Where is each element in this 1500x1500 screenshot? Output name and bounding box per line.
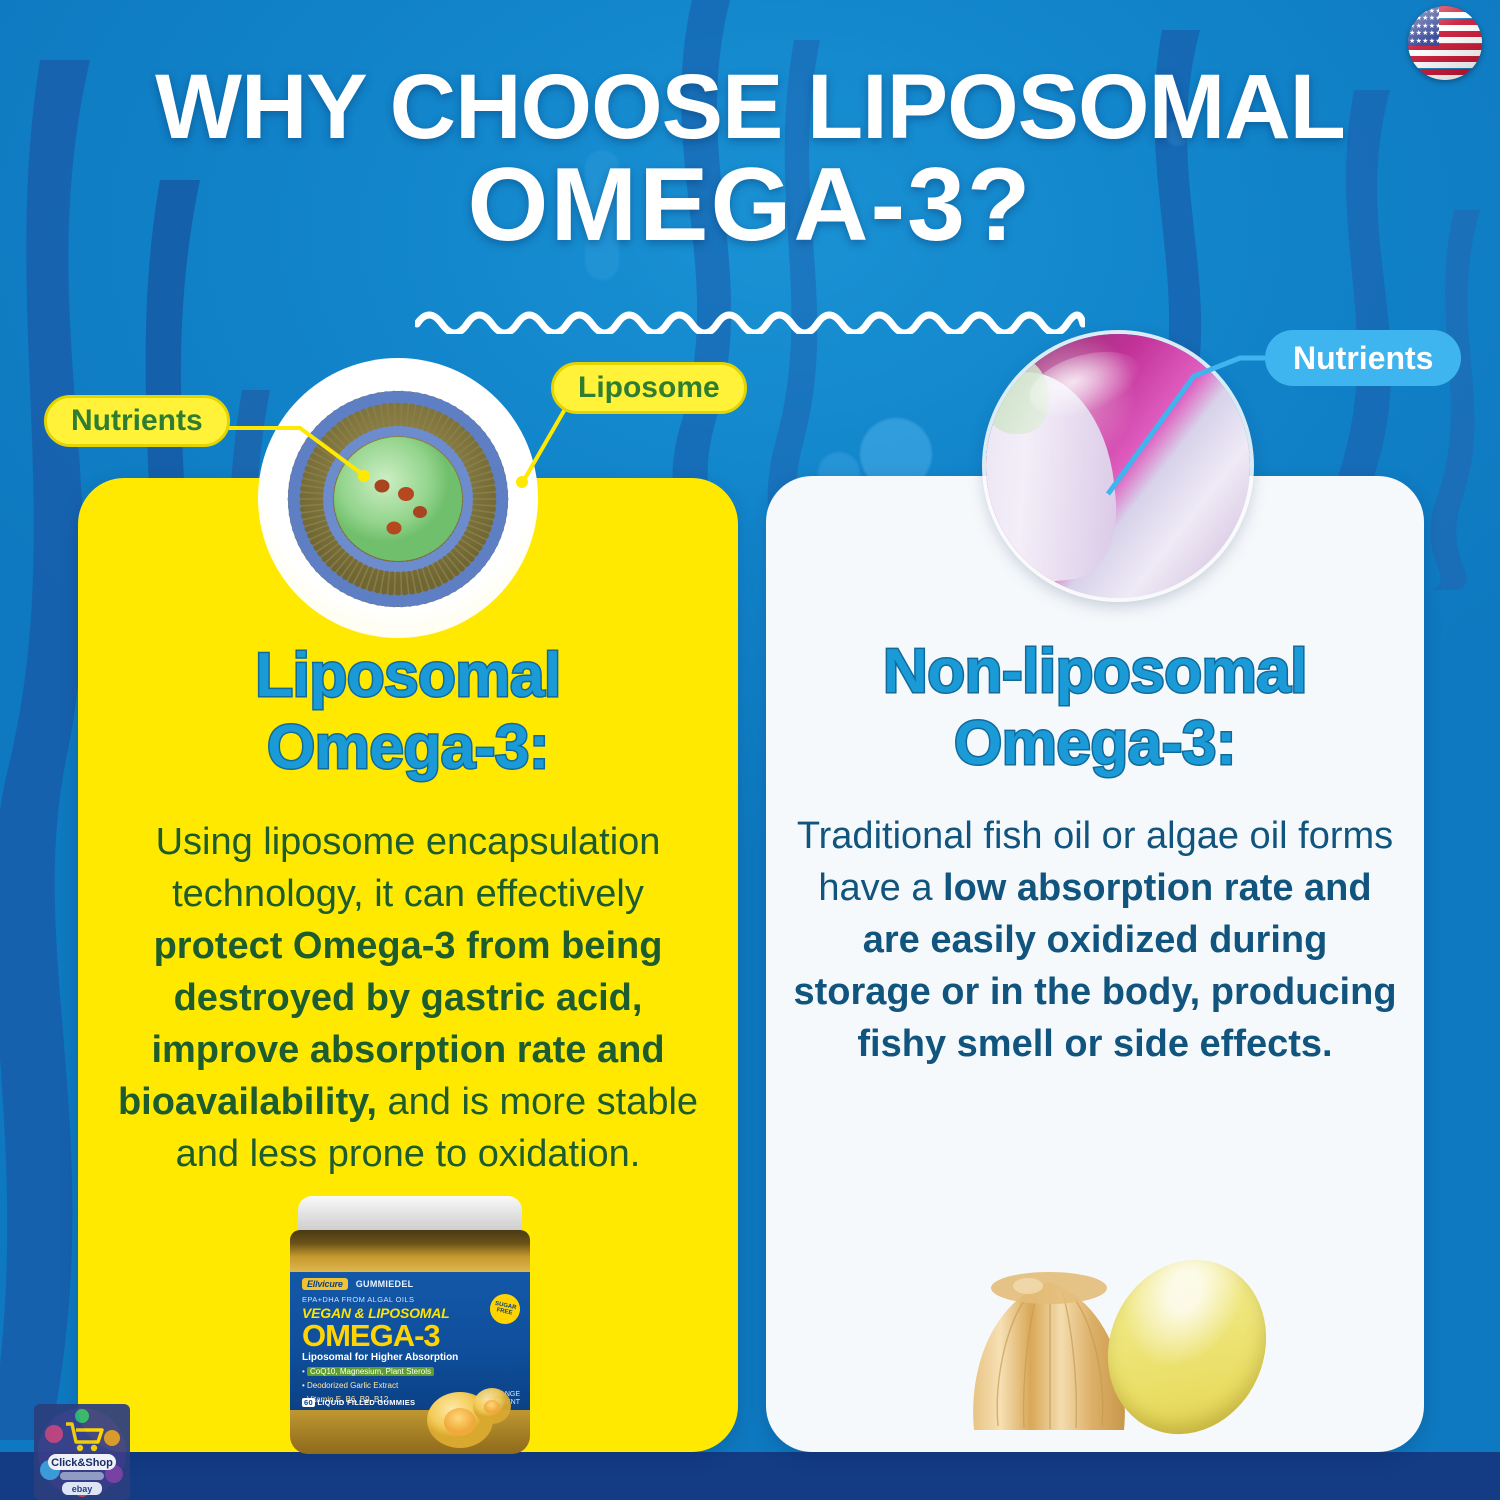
card-non-liposomal-title-line2: Omega-3: (954, 709, 1236, 778)
wave-divider (415, 300, 1085, 334)
watermark-marketplace: ebay (72, 1484, 93, 1494)
card-liposomal-title-line2: Omega-3: (267, 713, 549, 782)
label-count: 60 (302, 1398, 315, 1407)
card-liposomal-title: Liposomal Omega-3: (78, 640, 738, 784)
brand-primary: Ellvicure (302, 1278, 348, 1290)
title-line-2: OMEGA-3? (0, 156, 1500, 254)
callout-nutrients-left: Nutrients (44, 395, 230, 447)
label-product-name: OMEGA-3 (302, 1321, 520, 1351)
card-liposomal-title-line1: Liposomal (255, 641, 561, 710)
watermark-name: Click&Shop (51, 1457, 113, 1469)
label-count-row: 60 LIQUID FILLED GUMMIES (302, 1398, 415, 1407)
callout-liposome: Liposome (551, 362, 747, 414)
label-kicker: EPA+DHA FROM ALGAL OILS (302, 1295, 520, 1304)
brand-secondary: GUMMIEDEL (356, 1279, 414, 1289)
label-bullet-1: • CoQ10, Magnesium, Plant Sterols (302, 1366, 520, 1377)
callout-nutrients-right: Nutrients (1265, 330, 1461, 386)
page-title: WHY CHOOSE LIPOSOMAL OMEGA-3? (0, 58, 1500, 254)
product-bottle-image: Ellvicure GUMMIEDEL EPA+DHA FROM ALGAL O… (276, 1196, 544, 1458)
non-liposomal-gummy-image (958, 1258, 1258, 1454)
gummy-piece-icon (426, 1384, 512, 1450)
label-brand-row: Ellvicure GUMMIEDEL (302, 1278, 520, 1290)
card-non-liposomal-title-line1: Non-liposomal (883, 637, 1307, 706)
bottom-navy-strip (0, 1452, 1500, 1500)
card-liposomal-body: Using liposome encapsulation technology,… (104, 816, 712, 1180)
bottle-lid (298, 1196, 522, 1234)
label-count-text: LIQUID FILLED GUMMIES (317, 1398, 415, 1407)
card-non-liposomal-title: Non-liposomal Omega-3: (766, 636, 1424, 780)
title-line-1: WHY CHOOSE LIPOSOMAL (0, 58, 1500, 156)
infographic-stage: ★★★★★★★★★★★★★★★★★★★★★★★★★★★★★★ WHY CHOOS… (0, 0, 1500, 1500)
label-subtitle: Liposomal for Higher Absorption (302, 1352, 520, 1363)
click-and-shop-watermark: Click&Shop ebay (34, 1404, 130, 1500)
card-non-liposomal-body: Traditional fish oil or algae oil forms … (792, 810, 1398, 1070)
